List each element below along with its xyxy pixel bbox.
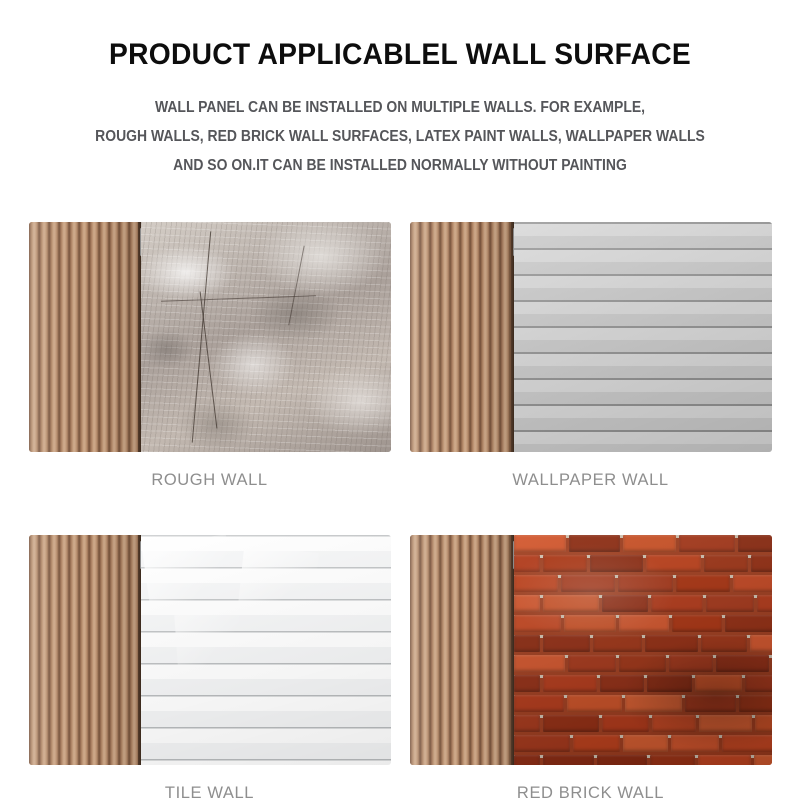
brick bbox=[514, 755, 540, 765]
wall-surface-rough bbox=[141, 222, 391, 452]
brick-course bbox=[514, 615, 772, 635]
brick bbox=[745, 675, 772, 692]
brick bbox=[669, 655, 713, 672]
wood-slat-panel bbox=[410, 222, 514, 452]
wall-card-caption: WALLPAPER WALL bbox=[410, 471, 772, 490]
brick bbox=[671, 735, 719, 752]
wall-photo-rough-wall bbox=[29, 222, 391, 452]
brick bbox=[738, 535, 772, 552]
wall-surface-red-brick bbox=[514, 535, 772, 765]
brick bbox=[751, 555, 772, 572]
brick bbox=[733, 575, 772, 592]
brick bbox=[646, 555, 701, 572]
brick bbox=[619, 655, 666, 672]
brick bbox=[543, 715, 599, 732]
wall-surface-wallpaper bbox=[514, 222, 772, 452]
brick bbox=[590, 555, 643, 572]
brick bbox=[543, 555, 587, 572]
wall-photo-wallpaper-wall bbox=[410, 222, 772, 452]
brick bbox=[676, 575, 730, 592]
wall-type-row-top: ROUGH WALL WALLPAPER WALL bbox=[0, 222, 800, 490]
brick bbox=[593, 635, 642, 652]
brick-course bbox=[514, 595, 772, 615]
brick-course bbox=[514, 575, 772, 595]
brick-course bbox=[514, 535, 772, 555]
brick bbox=[514, 655, 565, 672]
wall-crack-icon bbox=[288, 246, 304, 325]
subtitle-line-2: ROUGH WALLS, RED BRICK WALL SURFACES, LA… bbox=[40, 122, 760, 151]
wall-photo-red-brick-wall bbox=[410, 535, 772, 765]
wood-slat-panel bbox=[29, 535, 141, 765]
brick bbox=[739, 695, 772, 712]
brick bbox=[567, 695, 622, 712]
brick bbox=[716, 655, 769, 672]
brick bbox=[623, 535, 676, 552]
tile-shading-overlay bbox=[141, 535, 391, 765]
subtitle-line-1: WALL PANEL CAN BE INSTALLED ON MULTIPLE … bbox=[40, 93, 760, 122]
brick-course bbox=[514, 695, 772, 715]
brick bbox=[679, 535, 735, 552]
wall-card-caption: ROUGH WALL bbox=[29, 471, 391, 490]
brick bbox=[561, 575, 615, 592]
brick bbox=[618, 575, 673, 592]
tile-gloss-highlight bbox=[141, 535, 235, 614]
product-infographic-page: PRODUCT APPLICABLEL WALL SURFACE WALL PA… bbox=[0, 0, 800, 804]
tile-gloss-highlight bbox=[238, 545, 319, 612]
brick bbox=[625, 695, 682, 712]
brick-course bbox=[514, 635, 772, 655]
brick bbox=[543, 635, 590, 652]
brick-courses bbox=[514, 535, 772, 765]
brick bbox=[514, 535, 566, 552]
brick bbox=[600, 675, 644, 692]
brick bbox=[514, 715, 540, 732]
brick bbox=[650, 755, 695, 765]
wall-card-rough-wall[interactable]: ROUGH WALL bbox=[29, 222, 391, 490]
brick bbox=[699, 715, 752, 732]
wall-crack-icon bbox=[161, 295, 316, 301]
brick bbox=[695, 675, 742, 692]
brick bbox=[754, 755, 772, 765]
brick bbox=[672, 615, 722, 632]
brick bbox=[569, 535, 620, 552]
brick bbox=[750, 635, 772, 652]
wall-type-grid: ROUGH WALL WALLPAPER WALL bbox=[0, 222, 800, 803]
brick bbox=[701, 635, 747, 652]
brick-course bbox=[514, 675, 772, 695]
brick bbox=[619, 615, 669, 632]
brick bbox=[573, 735, 620, 752]
brick-course bbox=[514, 715, 772, 735]
brick bbox=[704, 555, 748, 572]
brick bbox=[543, 675, 597, 692]
brick bbox=[602, 715, 649, 732]
wood-slat-panel bbox=[29, 222, 141, 452]
brick bbox=[685, 695, 736, 712]
brick bbox=[514, 595, 540, 612]
wall-card-wallpaper-wall[interactable]: WALLPAPER WALL bbox=[410, 222, 772, 490]
brick-course bbox=[514, 655, 772, 675]
wall-photo-tile-wall bbox=[29, 535, 391, 765]
brick bbox=[514, 675, 540, 692]
brick bbox=[514, 735, 570, 752]
brick bbox=[652, 715, 696, 732]
brick-course bbox=[514, 755, 772, 765]
wall-type-row-bottom: TILE WALL RED BRICK WALL bbox=[0, 535, 800, 803]
brick bbox=[722, 735, 772, 752]
brick bbox=[706, 595, 754, 612]
brick bbox=[623, 735, 668, 752]
brick-course bbox=[514, 555, 772, 575]
brick bbox=[602, 595, 648, 612]
wood-slat-panel bbox=[410, 535, 514, 765]
wall-crack-icon bbox=[191, 232, 210, 443]
page-title: PRODUCT APPLICABLEL WALL SURFACE bbox=[24, 0, 776, 72]
brick bbox=[597, 755, 647, 765]
brick bbox=[757, 595, 772, 612]
brick bbox=[651, 595, 703, 612]
brick bbox=[647, 675, 692, 692]
brick bbox=[514, 615, 561, 632]
tile-gloss-highlight bbox=[174, 611, 242, 666]
wall-card-red-brick-wall[interactable]: RED BRICK WALL bbox=[410, 535, 772, 803]
wall-card-caption: RED BRICK WALL bbox=[410, 784, 772, 803]
wall-surface-tile bbox=[141, 535, 391, 765]
wall-crack-icon bbox=[200, 291, 218, 428]
brick bbox=[514, 695, 564, 712]
brick bbox=[543, 755, 594, 765]
brick bbox=[725, 615, 772, 632]
subtitle-line-3: AND SO ON.IT CAN BE INSTALLED NORMALLY W… bbox=[40, 151, 760, 180]
brick-course bbox=[514, 735, 772, 755]
brick bbox=[755, 715, 772, 732]
brick bbox=[543, 595, 599, 612]
brick bbox=[514, 575, 558, 592]
brick bbox=[645, 635, 698, 652]
page-subtitle: WALL PANEL CAN BE INSTALLED ON MULTIPLE … bbox=[40, 93, 760, 180]
wall-card-caption: TILE WALL bbox=[29, 784, 391, 803]
brick bbox=[514, 555, 540, 572]
wall-card-tile-wall[interactable]: TILE WALL bbox=[29, 535, 391, 803]
brick bbox=[698, 755, 751, 765]
brick bbox=[568, 655, 616, 672]
brick bbox=[514, 635, 540, 652]
brick bbox=[564, 615, 616, 632]
